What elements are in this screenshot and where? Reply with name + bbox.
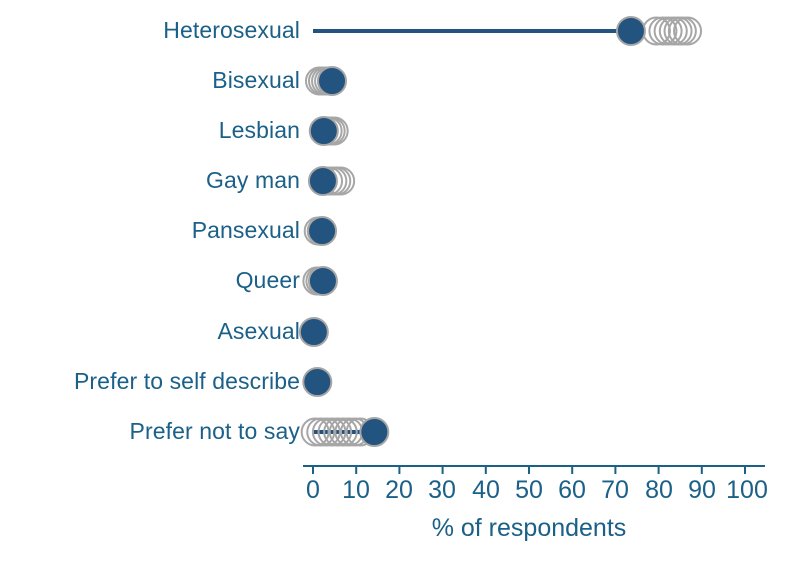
value-marker (308, 217, 336, 245)
category-label-lesbian: Lesbian (219, 119, 300, 142)
comparison-marker (312, 68, 339, 95)
comparison-marker (315, 68, 342, 95)
comparison-marker (324, 419, 351, 446)
x-axis-title: % of respondents (432, 516, 627, 541)
comparison-marker (303, 268, 330, 295)
category-label-prefer-to-self-describe: Prefer to self describe (74, 370, 300, 393)
category-label-pansexual: Pansexual (192, 219, 300, 242)
comparison-marker (302, 419, 329, 446)
comparison-marker (327, 168, 354, 195)
comparison-marker (315, 118, 342, 145)
comparison-marker (321, 118, 348, 145)
comparison-marker (669, 18, 696, 45)
category-label-asexual: Asexual (217, 320, 300, 343)
value-marker (360, 418, 388, 446)
category-label-prefer-not-to-say: Prefer not to say (130, 420, 300, 443)
x-tick-0: 0 (306, 478, 320, 503)
comparison-marker (649, 18, 676, 45)
comparison-marker (655, 18, 682, 45)
dot-plot-chart: Heterosexual Bisexual Lesbian Gay man Pa… (0, 0, 800, 566)
comparison-marker (313, 419, 340, 446)
value-marker (310, 117, 338, 145)
comparison-marker (308, 218, 335, 245)
comparison-marker (323, 168, 350, 195)
category-label-queer: Queer (236, 269, 300, 292)
comparison-marker (318, 68, 345, 95)
x-tick-20: 20 (385, 478, 413, 503)
comparison-marker (335, 419, 362, 446)
category-label-gay-man: Gay man (206, 169, 300, 192)
comparison-marker (643, 18, 670, 45)
value-marker (300, 318, 328, 346)
category-label-bisexual: Bisexual (212, 69, 300, 92)
comparison-marker (306, 268, 333, 295)
comparison-marker (318, 118, 345, 145)
comparison-marker (330, 419, 357, 446)
x-tick-90: 90 (688, 478, 716, 503)
comparison-marker (306, 68, 333, 95)
x-tick-80: 80 (645, 478, 673, 503)
comparison-marker (665, 18, 692, 45)
comparison-marker (307, 419, 334, 446)
value-marker (309, 167, 337, 195)
comparison-marker (315, 168, 342, 195)
value-marker (617, 17, 645, 45)
x-tick-60: 60 (558, 478, 586, 503)
comparison-marker (347, 419, 374, 446)
value-marker (318, 67, 346, 95)
comparison-marker (341, 419, 368, 446)
x-tick-50: 50 (515, 478, 543, 503)
comparison-marker (660, 18, 687, 45)
value-marker (303, 368, 331, 396)
comparison-marker (305, 218, 332, 245)
comparison-marker (674, 18, 701, 45)
value-marker (309, 267, 337, 295)
x-tick-70: 70 (601, 478, 629, 503)
comparison-marker (309, 68, 336, 95)
x-tick-40: 40 (472, 478, 500, 503)
x-tick-100: 100 (726, 478, 768, 503)
comparison-marker (319, 419, 346, 446)
category-label-heterosexual: Heterosexual (163, 19, 300, 42)
x-tick-10: 10 (342, 478, 370, 503)
comparison-marker (319, 168, 346, 195)
x-tick-30: 30 (428, 478, 456, 503)
